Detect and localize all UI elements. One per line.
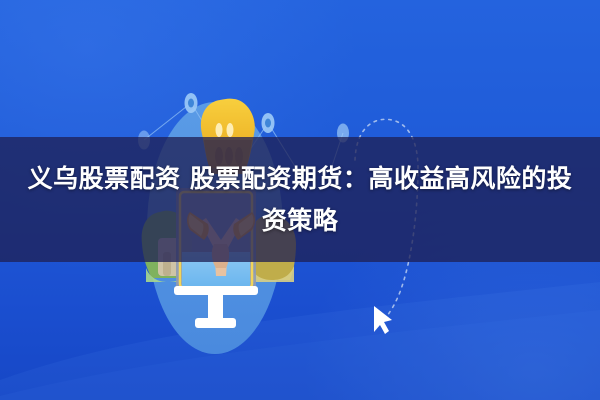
image-canvas: 义乌股票配资 股票配资期货：高收益高风险的投资策略 (0, 0, 600, 400)
page-title: 义乌股票配资 股票配资期货：高收益高风险的投资策略 (18, 158, 582, 242)
cursor-arrow (374, 306, 392, 334)
title-container: 义乌股票配资 股票配资期货：高收益高风险的投资策略 (0, 137, 600, 262)
